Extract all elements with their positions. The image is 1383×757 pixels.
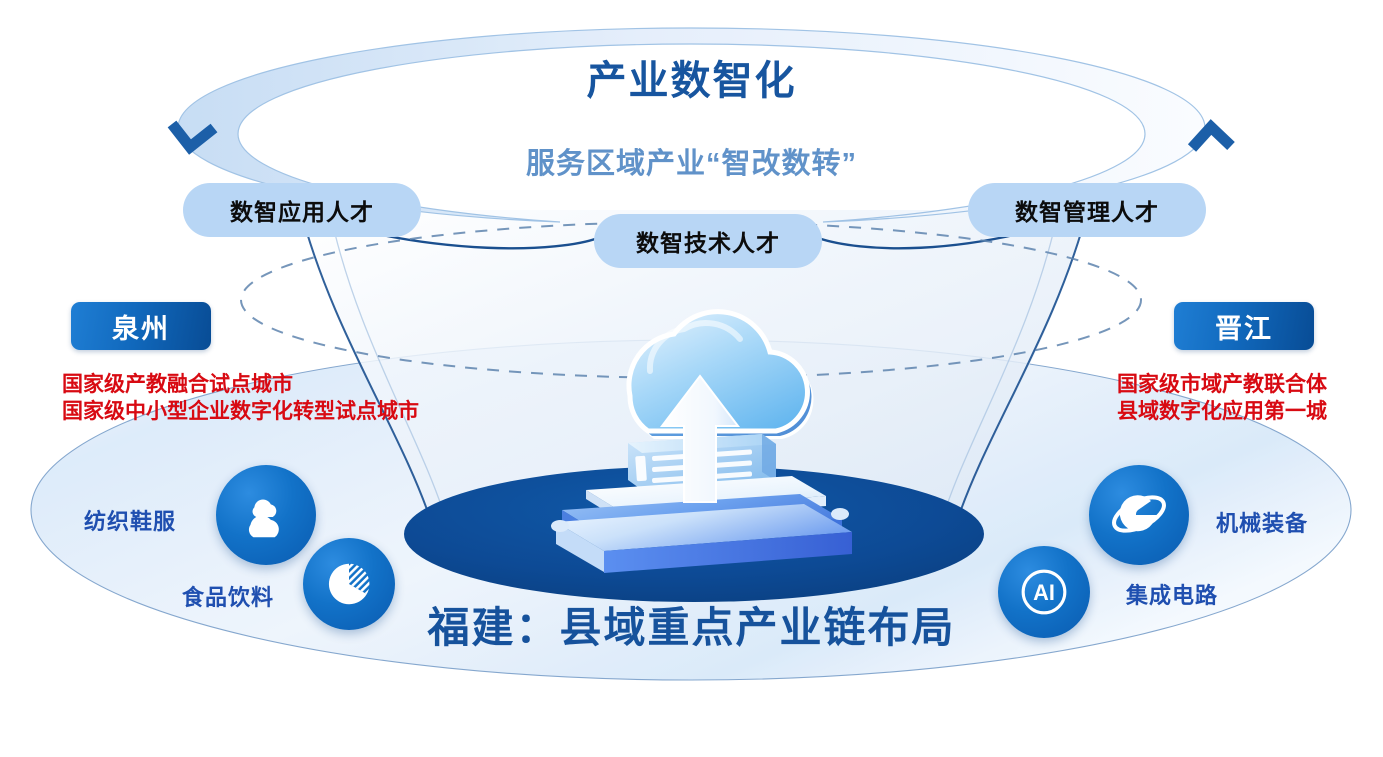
internet-explorer-icon [1107, 483, 1171, 547]
industry-icon-machine[interactable] [1089, 465, 1189, 565]
cloud-upload-platform [500, 276, 900, 576]
honours-jinjiang: 国家级市域产教联合体 县域数字化应用第一城 [1117, 371, 1327, 425]
honour-line: 国家级产教融合试点城市 [62, 371, 419, 398]
honours-quanzhou: 国家级产教融合试点城市 国家级中小型企业数字化转型试点城市 [62, 371, 419, 425]
infographic-canvas: 产业数智化 服务区域产业“智改数转” 数智应用人才 数智技术人才 数智管理人才 … [0, 0, 1383, 757]
cloud-icon [235, 484, 297, 546]
footer-title: 福建：县域重点产业链布局 [0, 594, 1383, 655]
industry-icon-textile[interactable] [216, 465, 316, 565]
talent-pill-management[interactable]: 数智管理人才 [968, 183, 1206, 237]
industry-label-textile: 纺织鞋服 [84, 504, 176, 536]
city-badge-quanzhou[interactable]: 泉州 [71, 302, 211, 350]
page-title: 产业数智化 [0, 48, 1383, 106]
honour-line: 县域数字化应用第一城 [1117, 398, 1327, 425]
talent-pill-technical[interactable]: 数智技术人才 [594, 214, 822, 268]
industry-label-machine: 机械装备 [1216, 506, 1308, 538]
honour-line: 国家级中小型企业数字化转型试点城市 [62, 398, 419, 425]
city-badge-jinjiang[interactable]: 晋江 [1174, 302, 1314, 350]
page-subtitle: 服务区域产业“智改数转” [0, 140, 1383, 182]
honour-line: 国家级市域产教联合体 [1117, 371, 1327, 398]
talent-pill-application[interactable]: 数智应用人才 [183, 183, 421, 237]
